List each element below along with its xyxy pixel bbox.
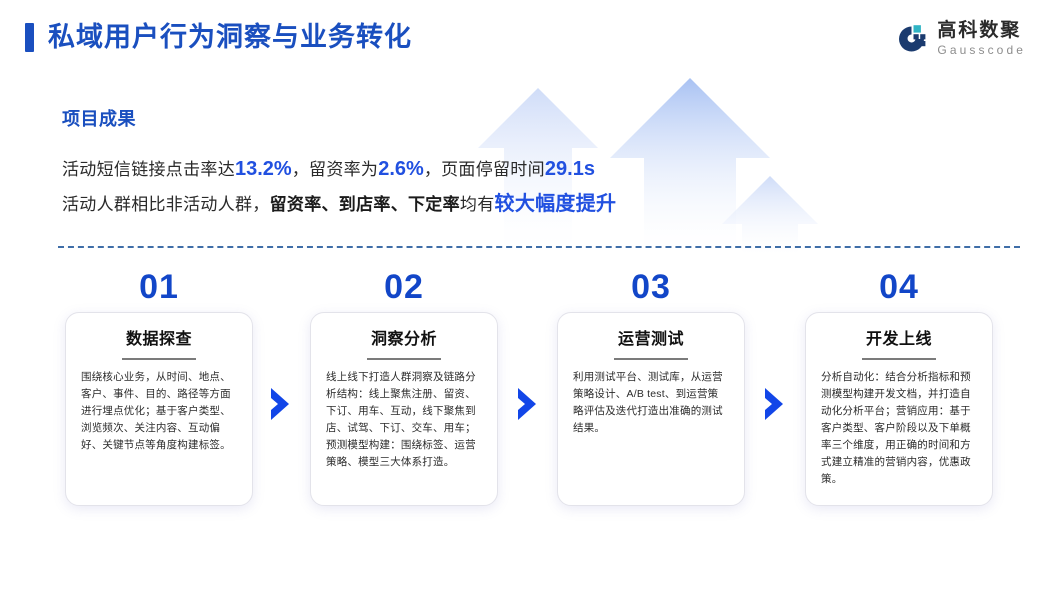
- section-divider: [58, 246, 1020, 248]
- slide-header: 私域用户行为洞察与业务转化 高科数聚 Gausscode: [0, 0, 1048, 78]
- step-card-04[interactable]: 开发上线 分析自动化：结合分析指标和预测模型构建开发文档，并打造自动化分析平台；…: [805, 312, 993, 506]
- results-line2-part2: 均有: [460, 195, 495, 214]
- step-rule-01: [122, 358, 196, 360]
- step-number-04: 04: [805, 268, 993, 306]
- step-title-01: 数据探查: [81, 329, 237, 351]
- results-line2-bold: 留资率、到店率、下定率: [270, 195, 460, 214]
- step-body-01: 围绕核心业务，从时间、地点、客户、事件、目的、路径等方面进行埋点优化；基于客户类…: [81, 369, 237, 454]
- chevron-right-icon-1: [268, 386, 292, 422]
- chevron-right-icon-3: [762, 386, 786, 422]
- step-title-04: 开发上线: [821, 329, 977, 351]
- results-line1-part1: 活动短信链接点击率达: [62, 160, 235, 179]
- results-line-1: 活动短信链接点击率达13.2%，留资率为2.6%，页面停留时间29.1s: [62, 152, 616, 187]
- step-rule-03: [614, 358, 688, 360]
- metric-dwell-time: 29.1s: [545, 158, 595, 180]
- title-marker: [25, 23, 34, 52]
- gausscode-logo-icon: [894, 22, 928, 56]
- step-body-02: 线上线下打造人群洞察及链路分析结构：线上聚焦注册、留资、下订、用车、互动，线下聚…: [326, 369, 482, 471]
- brand-logo: 高科数聚 Gausscode: [894, 18, 1026, 60]
- results-line1-part2: ，留资率为: [292, 160, 379, 179]
- step-rule-02: [367, 358, 441, 360]
- results-line2-highlight: 较大幅度提升: [495, 193, 617, 215]
- step-title-02: 洞察分析: [326, 329, 482, 351]
- up-arrow-icon-center: [610, 78, 770, 260]
- metric-lead-rate: 2.6%: [378, 158, 424, 180]
- step-number-03: 03: [557, 268, 745, 306]
- results-line-2: 活动人群相比非活动人群，留资率、到店率、下定率均有较大幅度提升: [62, 187, 616, 222]
- slide-root: 私域用户行为洞察与业务转化 高科数聚 Gausscode 项目成果 活动短信链接…: [0, 0, 1048, 591]
- results-line2-part1: 活动人群相比非活动人群，: [62, 195, 270, 214]
- results-line1-part3: ，页面停留时间: [424, 160, 545, 179]
- step-rule-04: [862, 358, 936, 360]
- results-heading: 项目成果: [62, 108, 616, 130]
- metric-click-rate: 13.2%: [235, 158, 292, 180]
- step-title-03: 运营测试: [573, 329, 729, 351]
- step-card-02[interactable]: 洞察分析 线上线下打造人群洞察及链路分析结构：线上聚焦注册、留资、下订、用车、互…: [310, 312, 498, 506]
- logo-text-en: Gausscode: [937, 43, 1026, 58]
- logo-text-cn: 高科数聚: [937, 20, 1026, 41]
- step-number-01: 01: [65, 268, 253, 306]
- step-card-03[interactable]: 运营测试 利用测试平台、测试库，从运营策略设计、A/B test、到运营策略评估…: [557, 312, 745, 506]
- results-section: 项目成果 活动短信链接点击率达13.2%，留资率为2.6%，页面停留时间29.1…: [62, 108, 616, 222]
- page-title: 私域用户行为洞察与业务转化: [48, 17, 412, 57]
- step-body-03: 利用测试平台、测试库，从运营策略设计、A/B test、到运营策略评估及迭代打造…: [573, 369, 729, 437]
- steps-section: 01 数据探查 围绕核心业务，从时间、地点、客户、事件、目的、路径等方面进行埋点…: [0, 268, 1048, 518]
- step-body-04: 分析自动化：结合分析指标和预测模型构建开发文档，并打造自动化分析平台；营销应用：…: [821, 369, 977, 488]
- chevron-right-icon-2: [515, 386, 539, 422]
- step-card-01[interactable]: 数据探查 围绕核心业务，从时间、地点、客户、事件、目的、路径等方面进行埋点优化；…: [65, 312, 253, 506]
- step-number-02: 02: [310, 268, 498, 306]
